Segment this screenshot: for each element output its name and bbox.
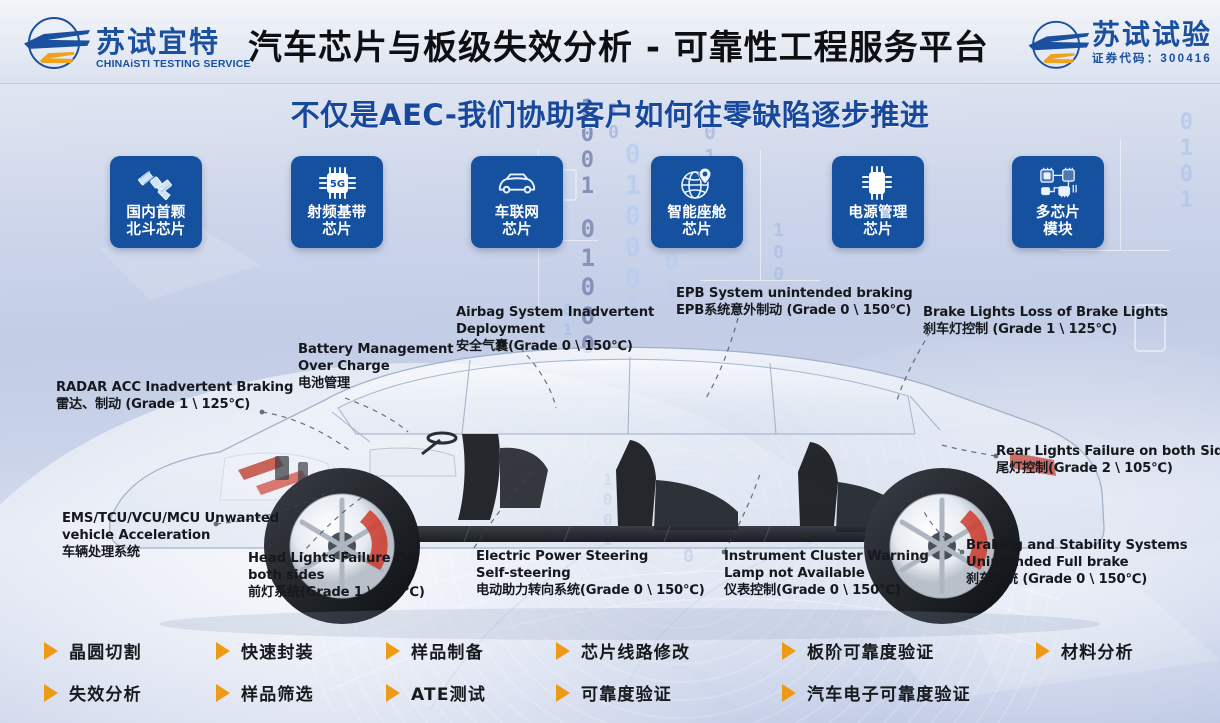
globe-pin-icon	[677, 165, 717, 201]
card-label-line1: 国内首颗	[126, 205, 185, 222]
circuit-trace-4	[700, 280, 820, 281]
chip-category-cards: 国内首颗 北斗芯片 5	[0, 156, 1220, 252]
multi-chip-icon	[1038, 165, 1078, 201]
annotation-cn: 安全气囊(Grade 0 \ 150℃)	[456, 339, 654, 356]
arrow-right-icon	[216, 684, 230, 702]
service-label: 快速封装	[241, 638, 314, 663]
arrow-right-icon	[216, 642, 230, 660]
stock-code: 证券代码：300416	[1092, 50, 1212, 66]
brand-name-cn: 苏试宜特	[96, 28, 251, 58]
brand-name-en: CHINAiSTI TESTING SERVICE	[96, 58, 251, 70]
annotation-en-2: both sides	[248, 568, 425, 585]
brand-right-name-cn: 苏试试验	[1092, 20, 1212, 51]
service-item-board-level-reliability[interactable]: 板阶可靠度验证	[782, 638, 934, 663]
card-beidou-chip[interactable]: 国内首颗 北斗芯片	[110, 156, 202, 248]
service-label: 样品制备	[411, 638, 484, 663]
annotation-en-1: EMS/TCU/VCU/MCU Unwanted	[62, 511, 279, 528]
card-multi-chip-module[interactable]: 多芯片 模块	[1012, 156, 1104, 248]
poster-canvas: 1001 01000 010001 10 10001 01 01 0101 10…	[0, 0, 1220, 723]
brand-logo-left[interactable]: 苏试宜特 CHINAiSTI TESTING SERVICE	[24, 14, 251, 72]
annotation-en-1: Instrument Cluster Warning	[724, 549, 929, 566]
annotation-cn: 刹车灯控制 (Grade 1 \ 125℃)	[923, 322, 1168, 339]
card-smart-cockpit-chip[interactable]: 智能座舱 芯片	[651, 156, 743, 248]
arrow-right-icon	[782, 684, 796, 702]
service-item-sample-prep[interactable]: 样品制备	[386, 638, 484, 663]
annotation-en-2: Lamp not Available	[724, 566, 929, 583]
annotation-braking-stability: Braking and Stability Systems Unintended…	[966, 538, 1188, 588]
card-power-management-chip[interactable]: 电源管理 芯片	[832, 156, 924, 248]
service-item-failure-analysis[interactable]: 失效分析	[44, 680, 142, 705]
card-label-line1: 多芯片	[1036, 205, 1080, 222]
annotation-en-2: Deployment	[456, 322, 654, 339]
card-label-line1: 车联网	[495, 205, 539, 222]
annotation-cn: 车辆处理系统	[62, 545, 279, 562]
service-item-ate-test[interactable]: ATE测试	[386, 680, 486, 705]
annotation-en-1: Electric Power Steering	[476, 549, 705, 566]
svg-text:5G: 5G	[330, 179, 345, 190]
annotation-en-2: Over Charge	[298, 359, 453, 376]
annotation-electric-power-steering: Electric Power Steering Self-steering 电动…	[476, 549, 705, 599]
power-chip-icon	[858, 165, 898, 201]
annotation-cn: 电动助力转向系统(Grade 0 \ 150℃)	[476, 583, 705, 600]
annotation-cn: 尾灯控制(Grade 2 \ 105℃)	[996, 461, 1220, 478]
arrow-right-icon	[1036, 642, 1050, 660]
service-label: 晶圆切割	[69, 638, 142, 663]
service-item-wafer-dicing[interactable]: 晶圆切割	[44, 638, 142, 663]
card-label-line2: 芯片	[667, 222, 726, 239]
brand-logo-right[interactable]: 苏试试验 证券代码：300416	[1026, 16, 1212, 70]
annotation-en-2: vehicle Acceleration	[62, 528, 279, 545]
arrow-right-icon	[386, 642, 400, 660]
card-label-line2: 北斗芯片	[126, 222, 185, 239]
service-item-fast-packaging[interactable]: 快速封装	[216, 638, 314, 663]
service-label: 材料分析	[1061, 638, 1134, 663]
arrow-right-icon	[556, 642, 570, 660]
annotation-en-2: Unintended Full brake	[966, 555, 1188, 572]
annotation-cn: 刹车系统 (Grade 0 \ 150℃)	[966, 572, 1188, 589]
card-label-line2: 芯片	[495, 222, 539, 239]
annotation-epb-system: EPB System unintended braking EPB系统意外制动 …	[676, 286, 913, 320]
card-label-line2: 芯片	[848, 222, 907, 239]
page-subtitle: 不仅是AEC-我们协助客户如何往零缺陷逐步推进	[0, 92, 1220, 134]
annotation-cn: 电池管理	[298, 376, 453, 393]
annotation-brake-lights: Brake Lights Loss of Brake Lights 刹车灯控制 …	[923, 305, 1168, 339]
sushi-logo-icon	[24, 14, 90, 72]
sushi-logo-icon	[1028, 18, 1085, 68]
annotation-battery-management: Battery Management Over Charge 电池管理	[298, 342, 453, 392]
arrow-right-icon	[386, 684, 400, 702]
service-label: 样品筛选	[241, 680, 314, 705]
card-label-line1: 电源管理	[848, 205, 907, 222]
card-iov-chip[interactable]: 车联网 芯片	[471, 156, 563, 248]
annotation-en-1: Battery Management	[298, 342, 453, 359]
car-icon	[497, 165, 537, 201]
annotation-cn: 前灯系统(Grade 1 \ 125℃)	[248, 585, 425, 602]
annotation-cn: 仪表控制(Grade 0 \ 150℃)	[724, 583, 929, 600]
card-label-line2: 芯片	[307, 222, 366, 239]
arrow-right-icon	[44, 684, 58, 702]
service-item-material-analysis[interactable]: 材料分析	[1036, 638, 1134, 663]
annotation-cn: 雷达、制动 (Grade 1 \ 125℃)	[56, 397, 293, 414]
annotation-ems-tcu-vcu-mcu: EMS/TCU/VCU/MCU Unwanted vehicle Acceler…	[62, 511, 279, 561]
arrow-right-icon	[44, 642, 58, 660]
arrow-right-icon	[556, 684, 570, 702]
card-rf-baseband-chip[interactable]: 5G 射频基带 芯片	[291, 156, 383, 248]
annotation-en-2: Self-steering	[476, 566, 705, 583]
service-label: 汽车电子可靠度验证	[807, 680, 971, 705]
annotation-en-1: EPB System unintended braking	[676, 286, 913, 303]
annotation-radar-acc: RADAR ACC Inadvertent Braking 雷达、制动 (Gra…	[56, 380, 293, 414]
satellite-icon	[136, 165, 176, 201]
service-item-automotive-reliability[interactable]: 汽车电子可靠度验证	[782, 680, 971, 705]
annotation-rear-lights: Rear Lights Failure on both Sides 尾灯控制(G…	[996, 444, 1220, 478]
service-list: 晶圆切割 快速封装 样品制备 芯片线路修改 板阶可靠度验证 材料分析 失效分析	[0, 628, 1220, 716]
service-item-reliability-verification[interactable]: 可靠度验证	[556, 680, 672, 705]
page-title: 汽车芯片与板级失效分析 - 可靠性工程服务平台	[248, 20, 989, 69]
service-item-chip-circuit-edit[interactable]: 芯片线路修改	[556, 638, 690, 663]
annotation-airbag-system: Airbag System Inadvertent Deployment 安全气…	[456, 305, 654, 355]
arrow-right-icon	[782, 642, 796, 660]
page-header: 苏试宜特 CHINAiSTI TESTING SERVICE 汽车芯片与板级失效…	[0, 0, 1220, 84]
annotation-en-1: Airbag System Inadvertent	[456, 305, 654, 322]
annotation-en-1: Rear Lights Failure on both Sides	[996, 444, 1220, 461]
service-label: 可靠度验证	[581, 680, 672, 705]
service-item-sample-screening[interactable]: 样品筛选	[216, 680, 314, 705]
service-label: ATE测试	[411, 680, 486, 705]
annotation-cn: EPB系统意外制动 (Grade 0 \ 150℃)	[676, 303, 913, 320]
annotation-en-1: Braking and Stability Systems	[966, 538, 1188, 555]
5g-chip-icon: 5G	[317, 165, 357, 201]
card-label-line1: 智能座舱	[667, 205, 726, 222]
annotation-en-1: Brake Lights Loss of Brake Lights	[923, 305, 1168, 322]
service-label: 芯片线路修改	[581, 638, 690, 663]
service-label: 板阶可靠度验证	[807, 638, 934, 663]
annotation-instrument-cluster: Instrument Cluster Warning Lamp not Avai…	[724, 549, 929, 599]
card-label-line1: 射频基带	[307, 205, 366, 222]
service-label: 失效分析	[69, 680, 142, 705]
card-label-line2: 模块	[1036, 222, 1080, 239]
annotation-en-1: RADAR ACC Inadvertent Braking	[56, 380, 293, 397]
